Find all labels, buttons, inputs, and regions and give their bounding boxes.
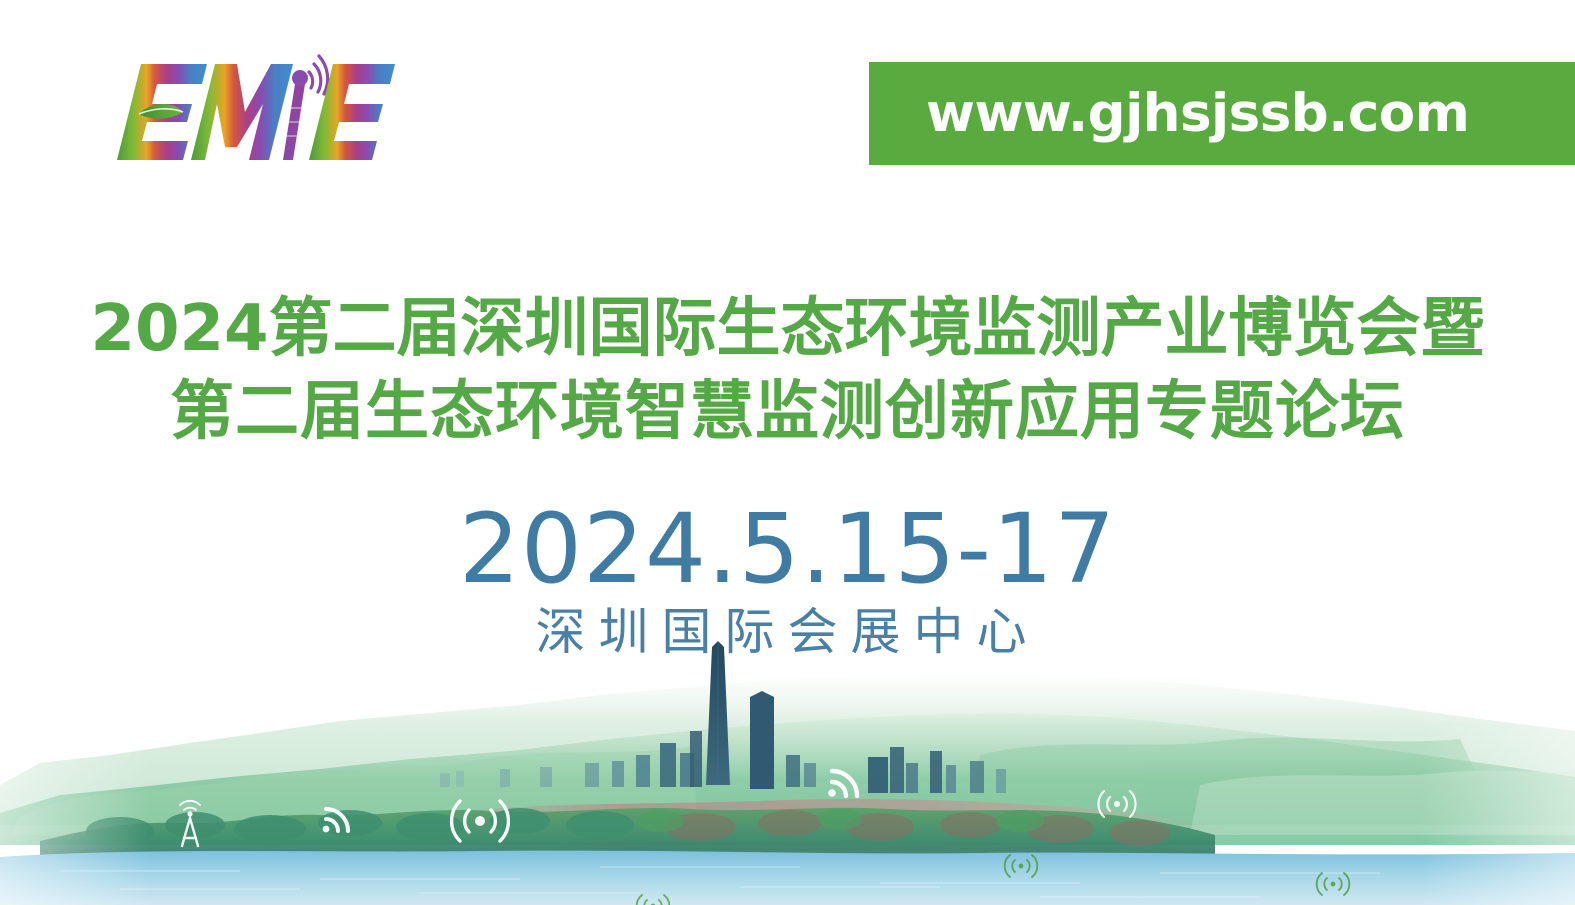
event-title-line-1: 2024第二届深圳国际生态环境监测产业博览会暨 [0,288,1575,371]
website-url-text: www.gjhsjssb.com [869,83,1469,144]
event-date: 2024.5.15-17 [0,494,1575,604]
hero-cityscape-illustration [0,635,1575,905]
event-date-text: 2024.5.15-17 [459,493,1116,605]
logo-letter-m [191,64,293,160]
website-url-banner[interactable]: www.gjhsjssb.com [869,62,1575,165]
event-title: 2024第二届深圳国际生态环境监测产业博览会暨 第二届生态环境智慧监测创新应用专… [0,288,1575,454]
event-title-line-2: 第二届生态环境智慧监测创新应用专题论坛 [0,371,1575,454]
emie-logo [95,42,405,182]
poster-canvas: www.gjhsjssb.com 2024第二届深圳国际生态环境监测产业博览会暨… [0,0,1575,905]
